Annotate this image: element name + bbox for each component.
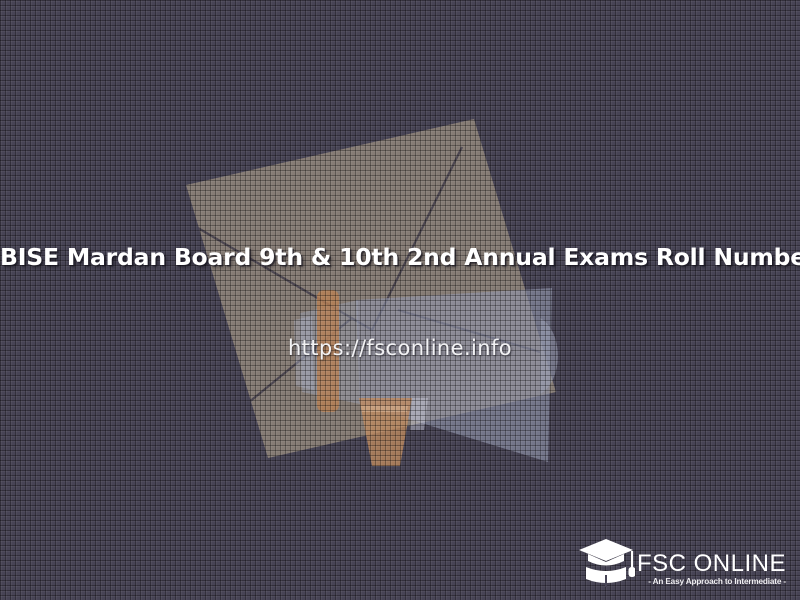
graduation-cap-icon bbox=[577, 534, 635, 592]
logo-tagline: - An Easy Approach to Intermediate - bbox=[648, 576, 786, 588]
promo-banner: BISE Mardan Board 9th & 10th 2nd Annual … bbox=[0, 0, 800, 600]
logo-title: FSC ONLINE bbox=[637, 551, 786, 576]
illustration-artwork bbox=[0, 0, 800, 600]
megaphone-tab bbox=[410, 398, 428, 430]
megaphone-grip-highlight bbox=[361, 406, 408, 412]
mortarboard-top bbox=[579, 539, 633, 561]
page-title: BISE Mardan Board 9th & 10th 2nd Annual … bbox=[0, 240, 800, 274]
site-url: https://fsconline.info bbox=[0, 336, 800, 360]
site-logo[interactable]: FSC ONLINE - An Easy Approach to Interme… bbox=[577, 534, 786, 592]
logo-wordmark: FSC ONLINE - An Easy Approach to Interme… bbox=[637, 551, 786, 592]
tassel-knot bbox=[628, 567, 635, 577]
